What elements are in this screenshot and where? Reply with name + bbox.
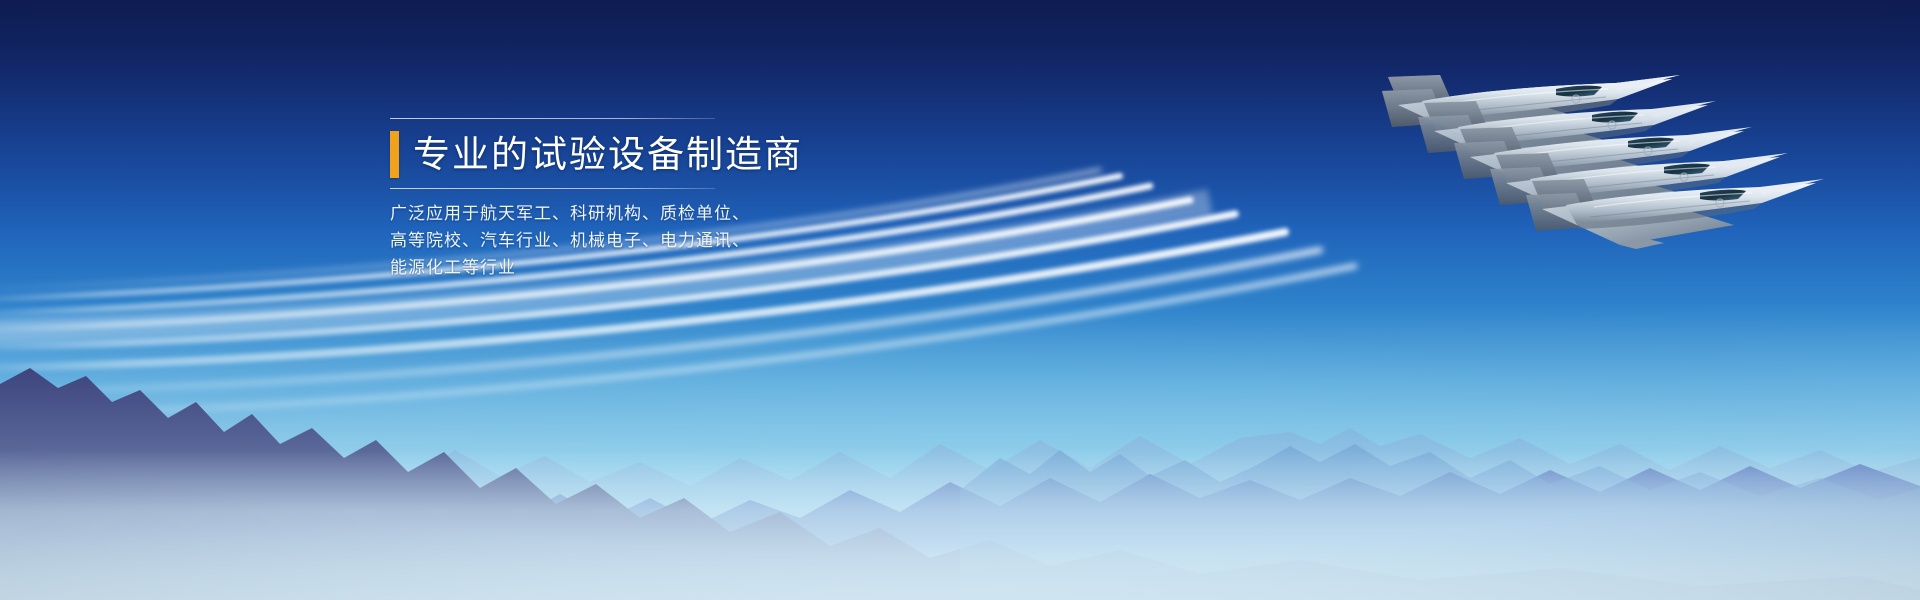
headline-top-rule <box>390 118 715 119</box>
hero-banner: 专业的试验设备制造商 广泛应用于航天军工、科研机构、质检单位、 高等院校、汽车行… <box>0 0 1920 600</box>
fighter-jet-formation <box>1380 45 1860 295</box>
banner-copy-block: 专业的试验设备制造商 广泛应用于航天军工、科研机构、质检单位、 高等院校、汽车行… <box>390 118 810 282</box>
headline-bottom-rule <box>390 188 715 189</box>
subtitle-line-1: 广泛应用于航天军工、科研机构、质检单位、 <box>390 201 810 228</box>
accent-bar <box>390 131 399 178</box>
subtitle-line-3: 能源化工等行业 <box>390 255 810 282</box>
banner-subtitle: 广泛应用于航天军工、科研机构、质检单位、 高等院校、汽车行业、机械电子、电力通讯… <box>390 201 810 282</box>
horizon-haze <box>0 300 1920 600</box>
banner-headline: 专业的试验设备制造商 <box>413 131 803 178</box>
subtitle-line-2: 高等院校、汽车行业、机械电子、电力通讯、 <box>390 228 810 255</box>
headline-row: 专业的试验设备制造商 <box>390 126 810 182</box>
